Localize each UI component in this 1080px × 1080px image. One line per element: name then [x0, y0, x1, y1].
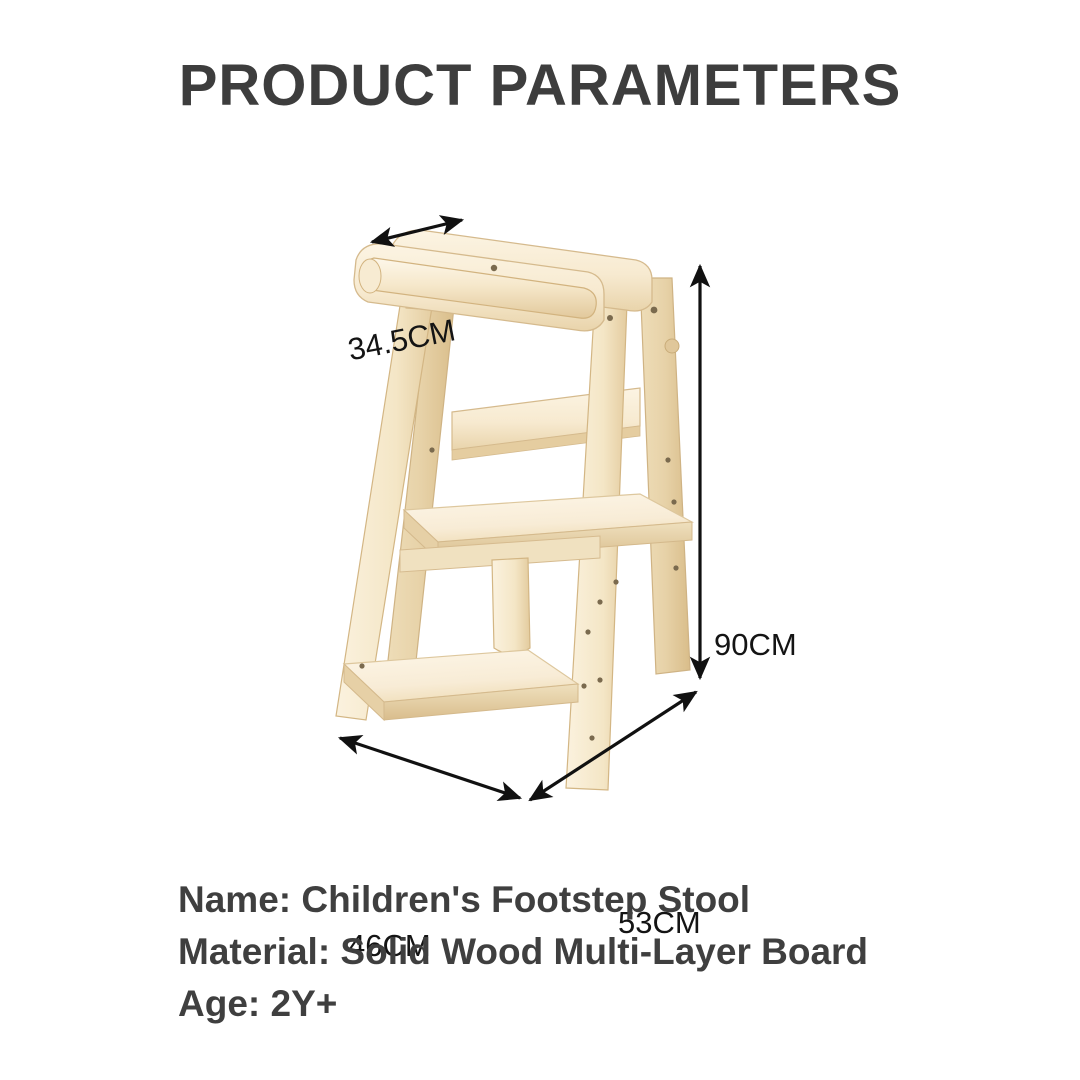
- product-figure: 34.5CM 90CM 46CM 53CM: [0, 150, 1080, 850]
- product-parameters-page: PRODUCT PARAMETERS: [0, 0, 1080, 1080]
- spec-line-material: Material: Solid Wood Multi-Layer Board: [178, 926, 1038, 978]
- lower-step-platform: [344, 650, 578, 720]
- stool-body: [336, 230, 692, 790]
- stool-illustration-svg: [0, 150, 1080, 850]
- dimension-line-front-width: [340, 738, 520, 798]
- rear-right-leg: [640, 278, 690, 674]
- spec-line-name: Name: Children's Footstep Stool: [178, 874, 1038, 926]
- dimension-line-depth: [530, 692, 696, 800]
- page-title: PRODUCT PARAMETERS: [0, 52, 1080, 119]
- product-specs: Name: Children's Footstep Stool Material…: [178, 874, 1038, 1030]
- spec-line-age: Age: 2Y+: [178, 978, 1038, 1030]
- dimension-label-height: 90CM: [714, 627, 797, 663]
- center-support-post: [492, 558, 530, 654]
